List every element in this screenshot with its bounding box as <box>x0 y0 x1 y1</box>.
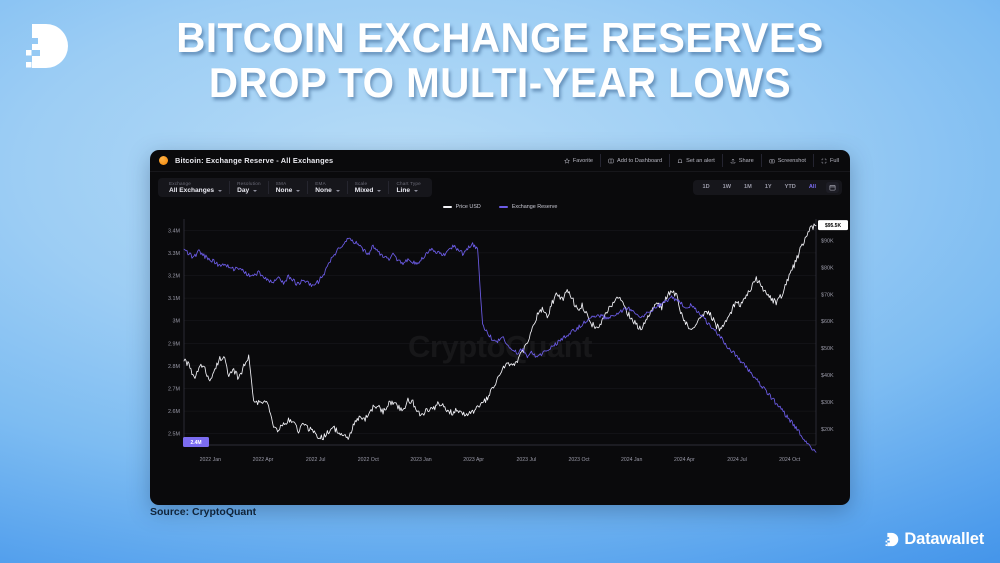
svg-text:2024 Apr: 2024 Apr <box>674 457 695 463</box>
camera-icon <box>769 158 775 164</box>
svg-text:$70K: $70K <box>821 292 834 298</box>
chevron-down-icon <box>336 190 340 192</box>
svg-text:2024 Oct: 2024 Oct <box>779 457 801 463</box>
svg-text:$30K: $30K <box>821 400 834 406</box>
svg-text:2022 Apr: 2022 Apr <box>253 457 274 463</box>
exchange-select[interactable]: Exchange All Exchanges <box>162 181 230 194</box>
svg-text:$80K: $80K <box>821 265 834 271</box>
time-range-group: 1D 1W 1M 1Y YTD All <box>693 180 842 196</box>
svg-text:2023 Jul: 2023 Jul <box>517 457 537 463</box>
range-button-1d[interactable]: 1D <box>696 182 715 194</box>
svg-text:3.1M: 3.1M <box>168 296 180 302</box>
date-picker-button[interactable] <box>826 182 839 193</box>
screenshot-button[interactable]: Screenshot <box>762 154 814 167</box>
calendar-icon <box>829 184 836 191</box>
set-alert-button[interactable]: Set an alert <box>670 154 723 167</box>
svg-text:3M: 3M <box>173 319 181 325</box>
bitcoin-dot-icon <box>159 156 168 165</box>
chart-type-value: Line <box>396 187 410 194</box>
svg-text:$40K: $40K <box>821 373 834 379</box>
add-to-dashboard-button[interactable]: Add to Dashboard <box>601 154 670 167</box>
svg-text:2.8M: 2.8M <box>168 364 180 370</box>
svg-text:$95.5K: $95.5K <box>825 223 842 229</box>
legend-swatch-reserve <box>499 206 508 207</box>
favorite-label: Favorite <box>573 158 593 164</box>
add-to-dashboard-label: Add to Dashboard <box>617 158 662 164</box>
chart-card-header: Bitcoin: Exchange Reserve - All Exchange… <box>150 150 850 172</box>
exchange-label: Exchange <box>169 181 222 186</box>
source-caption: Source: CryptoQuant <box>150 506 256 518</box>
svg-text:2.9M: 2.9M <box>168 341 180 347</box>
star-icon <box>564 158 570 164</box>
sma-value: None <box>276 187 292 194</box>
share-button[interactable]: Share <box>723 154 762 167</box>
range-button-all[interactable]: All <box>803 182 822 194</box>
ema-label: EMA <box>315 181 339 186</box>
resolution-label: Resolution <box>237 181 261 186</box>
scale-label: Scale <box>355 181 382 186</box>
svg-text:2.7M: 2.7M <box>168 387 180 393</box>
chart-plot-area[interactable]: CryptoQuant 3.4M3.3M3.2M3.1M3M2.9M2.8M2.… <box>150 213 850 475</box>
svg-text:$90K: $90K <box>821 239 834 245</box>
scale-value: Mixed <box>355 187 374 194</box>
share-icon <box>730 158 736 164</box>
chart-svg: 3.4M3.3M3.2M3.1M3M2.9M2.8M2.7M2.6M2.5M$9… <box>150 213 850 475</box>
svg-text:2024 Jul: 2024 Jul <box>727 457 747 463</box>
svg-text:3.4M: 3.4M <box>168 228 180 234</box>
chart-settings-group: Exchange All Exchanges Resolution Day SM… <box>158 178 432 197</box>
chart-type-select[interactable]: Chart Type Line <box>389 181 427 194</box>
headline-line-2: DROP TO MULTI-YEAR LOWS <box>20 61 980 106</box>
fullscreen-button[interactable]: Full <box>814 154 841 167</box>
svg-text:2022 Jul: 2022 Jul <box>306 457 326 463</box>
share-label: Share <box>739 158 754 164</box>
legend-item-price: Price USD <box>443 204 481 210</box>
svg-text:2.4M: 2.4M <box>190 440 201 446</box>
chart-title: Bitcoin: Exchange Reserve - All Exchange… <box>175 156 333 165</box>
svg-text:2023 Jan: 2023 Jan <box>410 457 431 463</box>
range-button-1y[interactable]: 1Y <box>759 182 778 194</box>
chevron-down-icon <box>218 190 222 192</box>
chevron-down-icon <box>377 190 381 192</box>
favorite-button[interactable]: Favorite <box>557 154 601 167</box>
scale-select[interactable]: Scale Mixed <box>348 181 390 194</box>
footer-wordmark: Datawallet <box>904 530 984 549</box>
chevron-down-icon <box>414 190 418 192</box>
svg-text:2.6M: 2.6M <box>168 409 180 415</box>
range-button-ytd[interactable]: YTD <box>779 182 802 194</box>
ema-select[interactable]: EMA None <box>308 181 347 194</box>
svg-text:$50K: $50K <box>821 346 834 352</box>
legend-swatch-price <box>443 206 452 207</box>
legend-item-reserve: Exchange Reserve <box>499 204 558 210</box>
svg-text:2023 Oct: 2023 Oct <box>568 457 590 463</box>
svg-text:$60K: $60K <box>821 319 834 325</box>
svg-text:2023 Apr: 2023 Apr <box>463 457 484 463</box>
resolution-select[interactable]: Resolution Day <box>230 181 269 194</box>
sma-select[interactable]: SMA None <box>269 181 308 194</box>
chart-controls-row: Exchange All Exchanges Resolution Day SM… <box>150 172 850 197</box>
svg-text:2024 Jan: 2024 Jan <box>621 457 642 463</box>
expand-icon <box>821 158 827 164</box>
resolution-value: Day <box>237 187 249 194</box>
dashboard-icon <box>608 158 614 164</box>
svg-text:2022 Oct: 2022 Oct <box>358 457 380 463</box>
sma-label: SMA <box>276 181 300 186</box>
ema-value: None <box>315 187 331 194</box>
page-title: BITCOIN EXCHANGE RESERVES DROP TO MULTI-… <box>20 16 980 106</box>
datawallet-d-icon <box>883 531 899 548</box>
range-button-1m[interactable]: 1M <box>738 182 758 194</box>
headline-line-1: BITCOIN EXCHANGE RESERVES <box>20 16 980 61</box>
chart-header-actions: Favorite Add to Dashboard Set an alert <box>557 154 841 167</box>
set-alert-label: Set an alert <box>686 158 715 164</box>
chart-legend: Price USD Exchange Reserve <box>150 204 850 210</box>
chart-type-label: Chart Type <box>396 181 420 186</box>
legend-label-price: Price USD <box>456 204 481 210</box>
fullscreen-label: Full <box>830 158 839 164</box>
footer-brand: Datawallet <box>883 530 984 549</box>
svg-text:$20K: $20K <box>821 427 834 433</box>
chevron-down-icon <box>296 190 300 192</box>
exchange-value: All Exchanges <box>169 187 214 194</box>
svg-text:2022 Jan: 2022 Jan <box>200 457 221 463</box>
chevron-down-icon <box>253 190 257 192</box>
svg-text:3.3M: 3.3M <box>168 251 180 257</box>
chart-card: Bitcoin: Exchange Reserve - All Exchange… <box>150 150 850 505</box>
bell-icon <box>677 158 683 164</box>
range-button-1w[interactable]: 1W <box>717 182 737 194</box>
svg-text:2.5M: 2.5M <box>168 432 180 438</box>
svg-text:3.2M: 3.2M <box>168 274 180 280</box>
screenshot-label: Screenshot <box>778 158 806 164</box>
legend-label-reserve: Exchange Reserve <box>512 204 558 210</box>
